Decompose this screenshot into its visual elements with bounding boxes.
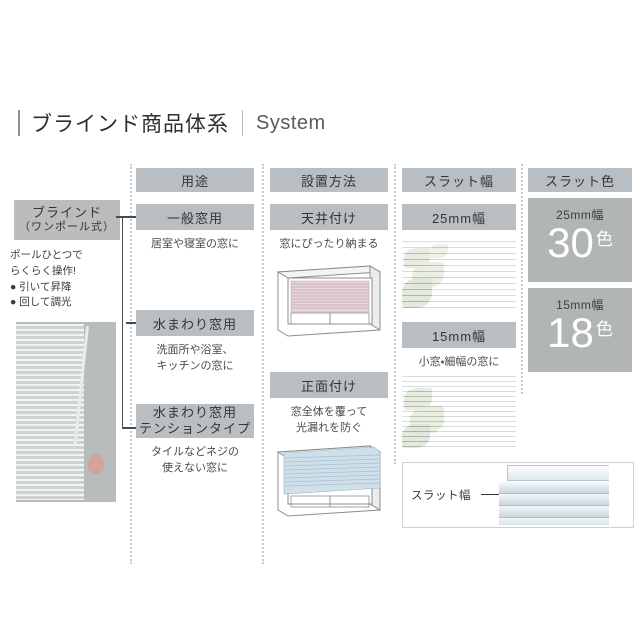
color-box-15mm-unit: 色	[596, 320, 613, 339]
use-item-tension: 水まわり窓用 テンションタイプ タイルなどネジの 使えない窓に	[136, 404, 254, 477]
slat-2	[499, 494, 609, 506]
install-item-front-label: 正面付け	[270, 372, 388, 398]
width-photo-25mm	[402, 236, 516, 312]
photo-slats-overlay-25mm	[402, 236, 516, 312]
slat-width-photo	[499, 464, 609, 525]
title-accent-bar	[18, 110, 20, 136]
width-item-15mm: 15mm幅 小窓・細幅の窓に	[402, 322, 516, 371]
column-separator-2	[262, 164, 264, 564]
title-main-text: ブラインド商品体系	[31, 108, 229, 138]
page-title: ブラインド商品体系 System	[18, 108, 326, 138]
use-item-wet-area-label: 水まわり窓用	[136, 310, 254, 336]
product-bullet-raise-lower: ● 引いて昇降	[10, 280, 124, 296]
front-mount-illustration	[270, 436, 388, 522]
color-box-25mm-unit: 色	[596, 230, 613, 249]
slat-3	[499, 506, 609, 518]
product-desc-line2: らくらく操作!	[10, 264, 124, 280]
slat-4	[499, 518, 609, 525]
column-separator-4	[521, 164, 523, 394]
catalog-page: ブラインド商品体系 System 用途 設置方法 スラット幅 スラット色 ブライ…	[0, 0, 640, 640]
product-name: ブラインド	[32, 205, 102, 221]
title-divider	[242, 110, 243, 136]
use-bracket	[122, 216, 123, 428]
product-desc-line1: ポールひとつで	[10, 248, 124, 264]
install-item-ceiling: 天井付け 窓にぴったり納まる	[270, 204, 388, 253]
use-bracket-tick-2	[126, 322, 136, 324]
product-type: （ワンポール式）	[19, 221, 115, 235]
title-sub-text: System	[256, 112, 326, 135]
width-item-25mm: 25mm幅	[402, 204, 516, 230]
color-box-25mm-number: 30	[547, 219, 594, 266]
photo-slats-overlay-15mm	[402, 372, 516, 450]
column-header-slat-width: スラット幅	[402, 168, 516, 192]
use-bracket-tick-3	[122, 427, 136, 429]
column-header-use: 用途	[136, 168, 254, 192]
slat-headrail	[507, 465, 609, 481]
install-item-ceiling-caption: 窓にぴったり納まる	[270, 237, 388, 253]
slat-width-detail-label: スラット幅	[411, 487, 471, 503]
install-item-front-caption-line1: 窓全体を覆って	[270, 405, 388, 421]
column-header-install: 設置方法	[270, 168, 388, 192]
use-item-tension-label: 水まわり窓用 テンションタイプ	[136, 404, 254, 438]
use-item-general-label: 一般窓用	[136, 204, 254, 230]
photo-hand	[88, 454, 104, 474]
install-item-front-caption-line2: 光漏れを防ぐ	[270, 421, 388, 437]
color-box-15mm: 15mm幅 18色	[528, 288, 632, 372]
product-bullet-tilt: ● 回して調光	[10, 295, 124, 311]
column-separator-3	[394, 164, 396, 464]
ceiling-mount-illustration	[270, 256, 388, 342]
install-item-front: 正面付け 窓全体を覆って 光漏れを防ぐ	[270, 372, 388, 437]
use-bracket-tick-1	[122, 216, 136, 218]
use-item-general-caption: 居室や寝室の窓に	[136, 237, 254, 253]
width-item-15mm-caption: 小窓・細幅の窓に	[402, 355, 516, 371]
product-description: ポールひとつで らくらく操作! ● 引いて昇降 ● 回して調光	[10, 248, 124, 311]
use-item-wet-area: 水まわり窓用 洗面所や浴室、 キッチンの窓に	[136, 310, 254, 375]
photo-blinds	[16, 324, 84, 500]
use-item-tension-caption-line2: 使えない窓に	[136, 461, 254, 477]
color-box-25mm-count: 30色	[528, 222, 632, 264]
use-item-wet-area-caption-line1: 洗面所や浴室、	[136, 343, 254, 359]
install-item-front-caption: 窓全体を覆って 光漏れを防ぐ	[270, 405, 388, 437]
column-header-slat-color: スラット色	[528, 168, 632, 192]
use-item-wet-area-caption-line2: キッチンの窓に	[136, 359, 254, 375]
use-item-wet-area-caption: 洗面所や浴室、 キッチンの窓に	[136, 343, 254, 375]
use-item-tension-label-line2: テンションタイプ	[139, 421, 251, 437]
use-item-general: 一般窓用 居室や寝室の窓に	[136, 204, 254, 253]
color-box-25mm: 25mm幅 30色	[528, 198, 632, 282]
install-item-ceiling-label: 天井付け	[270, 204, 388, 230]
width-item-15mm-label: 15mm幅	[402, 322, 516, 348]
use-item-tension-caption-line1: タイルなどネジの	[136, 445, 254, 461]
color-box-15mm-number: 18	[547, 309, 594, 356]
slat-width-detail-callout: スラット幅	[402, 462, 634, 528]
product-photo	[16, 322, 116, 502]
color-box-15mm-count: 18色	[528, 312, 632, 354]
slat-1	[499, 482, 609, 494]
product-name-box: ブラインド （ワンポール式）	[14, 200, 120, 240]
width-item-25mm-label: 25mm幅	[402, 204, 516, 230]
width-photo-15mm	[402, 372, 516, 450]
use-item-tension-label-line1: 水まわり窓用	[153, 405, 237, 421]
product-connector-line	[116, 216, 124, 218]
use-item-tension-caption: タイルなどネジの 使えない窓に	[136, 445, 254, 477]
column-separator-1	[130, 164, 132, 564]
